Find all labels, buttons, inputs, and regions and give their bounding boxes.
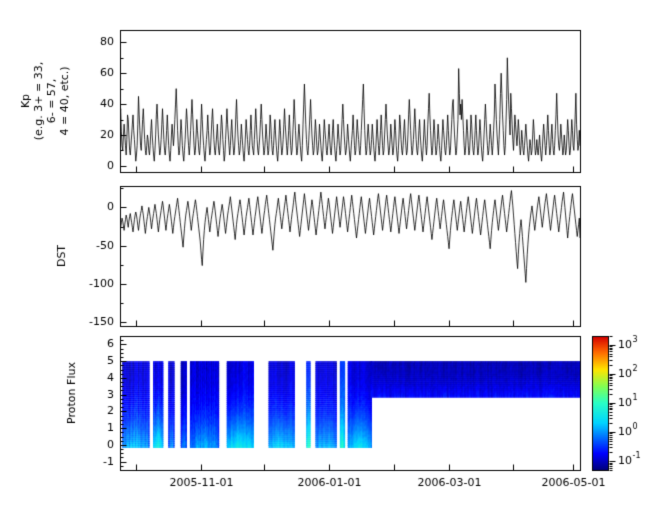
multipanel-plot-canvas (0, 0, 665, 523)
space-weather-figure: Kp (e.g. 3+ = 33, 6- = 57, 4 = 40, etc.)… (0, 0, 665, 523)
